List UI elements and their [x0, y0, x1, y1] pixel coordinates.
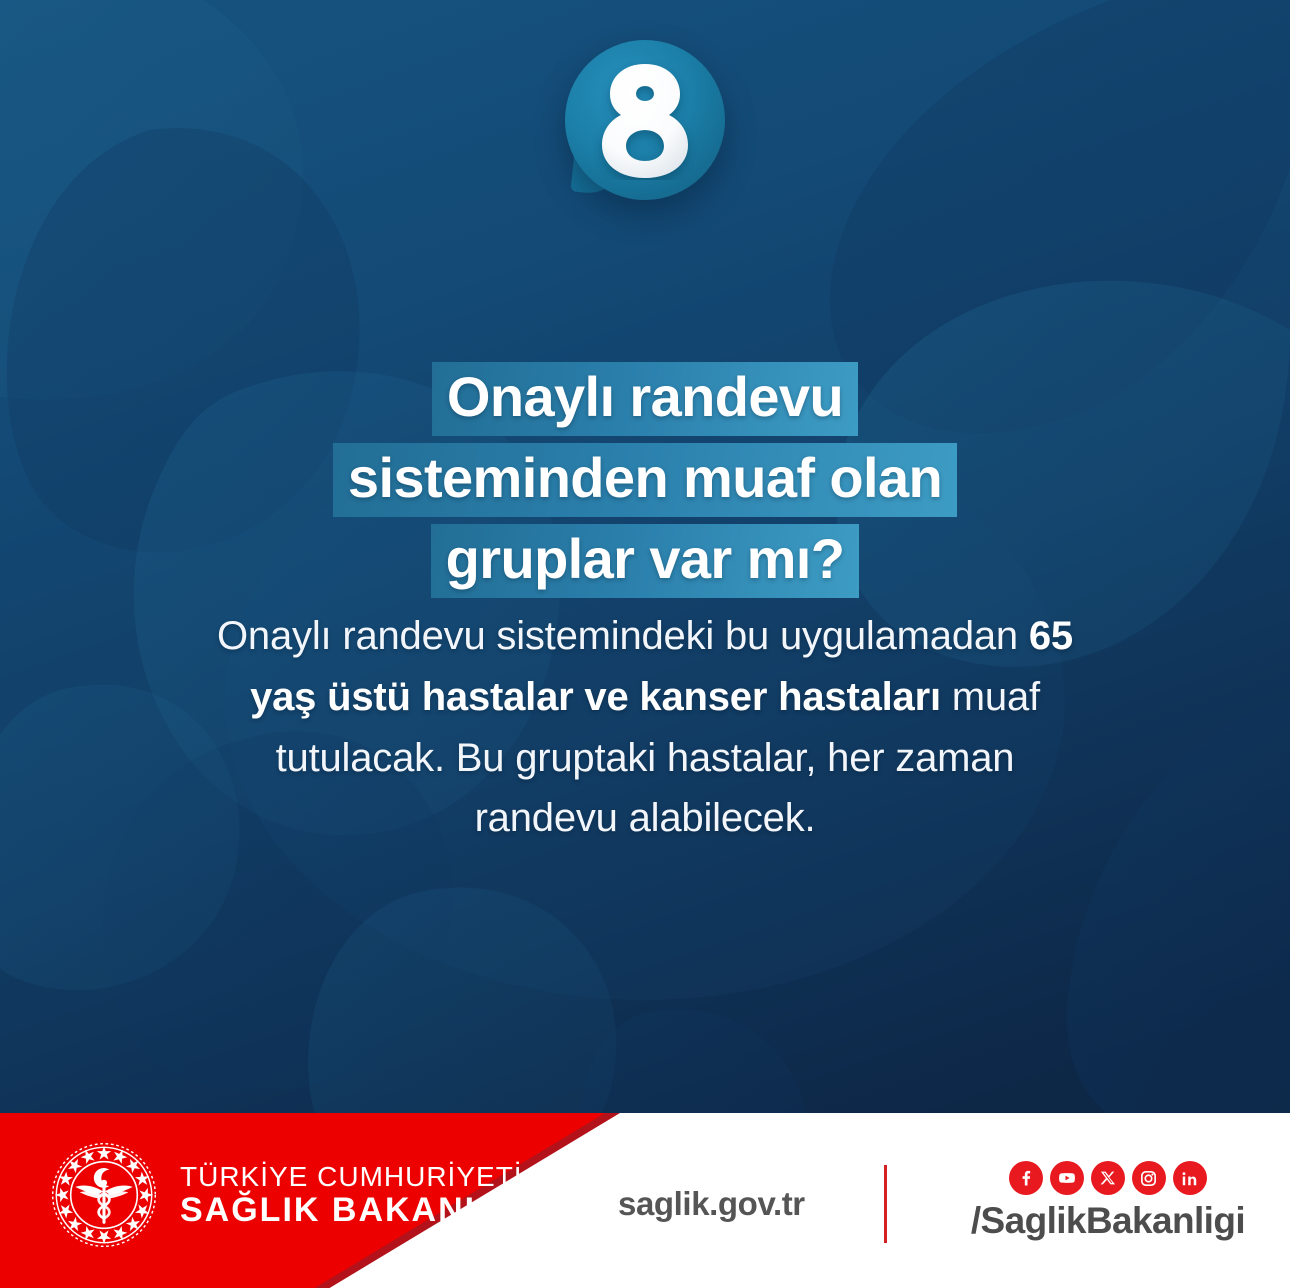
speech-bubble-badge: [565, 40, 725, 200]
website-url[interactable]: saglik.gov.tr: [618, 1185, 805, 1223]
social-handle[interactable]: /SaglikBakanligi: [971, 1200, 1245, 1242]
linkedin-icon[interactable]: [1173, 1161, 1207, 1195]
ministry-logo-lockup: TÜRKİYE CUMHURİYETİ SAĞLIK BAKANLIĞI: [50, 1141, 539, 1249]
headline-line-1-text: Onaylı randevu: [432, 362, 858, 436]
ministry-name: TÜRKİYE CUMHURİYETİ SAĞLIK BAKANLIĞI: [180, 1162, 539, 1229]
footer-bar: TÜRKİYE CUMHURİYETİ SAĞLIK BAKANLIĞI sag…: [0, 1113, 1290, 1288]
ministry-name-line-2: SAĞLIK BAKANLIĞI: [180, 1192, 539, 1229]
headline-line-2: sisteminden muaf olan: [0, 443, 1290, 517]
instagram-icon[interactable]: [1132, 1161, 1166, 1195]
footer-divider: [884, 1165, 887, 1243]
number-eight-glyph-icon: [590, 60, 700, 180]
badge-container: [0, 40, 1290, 240]
poster-canvas: Onaylı randevu sisteminden muaf olan gru…: [0, 0, 1290, 1288]
social-icons-row: [1009, 1161, 1207, 1195]
ministry-of-health-emblem-icon: [50, 1141, 158, 1249]
badge-number-container: [565, 40, 725, 200]
ministry-name-line-1: TÜRKİYE CUMHURİYETİ: [180, 1162, 539, 1192]
headline-line-1: Onaylı randevu: [0, 362, 1290, 436]
x-twitter-icon[interactable]: [1091, 1161, 1125, 1195]
headline-line-3: gruplar var mı?: [0, 524, 1290, 598]
headline-line-3-text: gruplar var mı?: [431, 524, 860, 598]
headline-line-2-text: sisteminden muaf olan: [333, 443, 957, 517]
body-paragraph: Onaylı randevu sistemindeki bu uygulamad…: [205, 606, 1085, 849]
headline: Onaylı randevu sisteminden muaf olan gru…: [0, 362, 1290, 605]
youtube-icon[interactable]: [1050, 1161, 1084, 1195]
body-segment-1: Onaylı randevu sistemindeki bu uygulamad…: [217, 614, 1029, 658]
facebook-icon[interactable]: [1009, 1161, 1043, 1195]
social-block: /SaglikBakanligi: [971, 1161, 1245, 1242]
